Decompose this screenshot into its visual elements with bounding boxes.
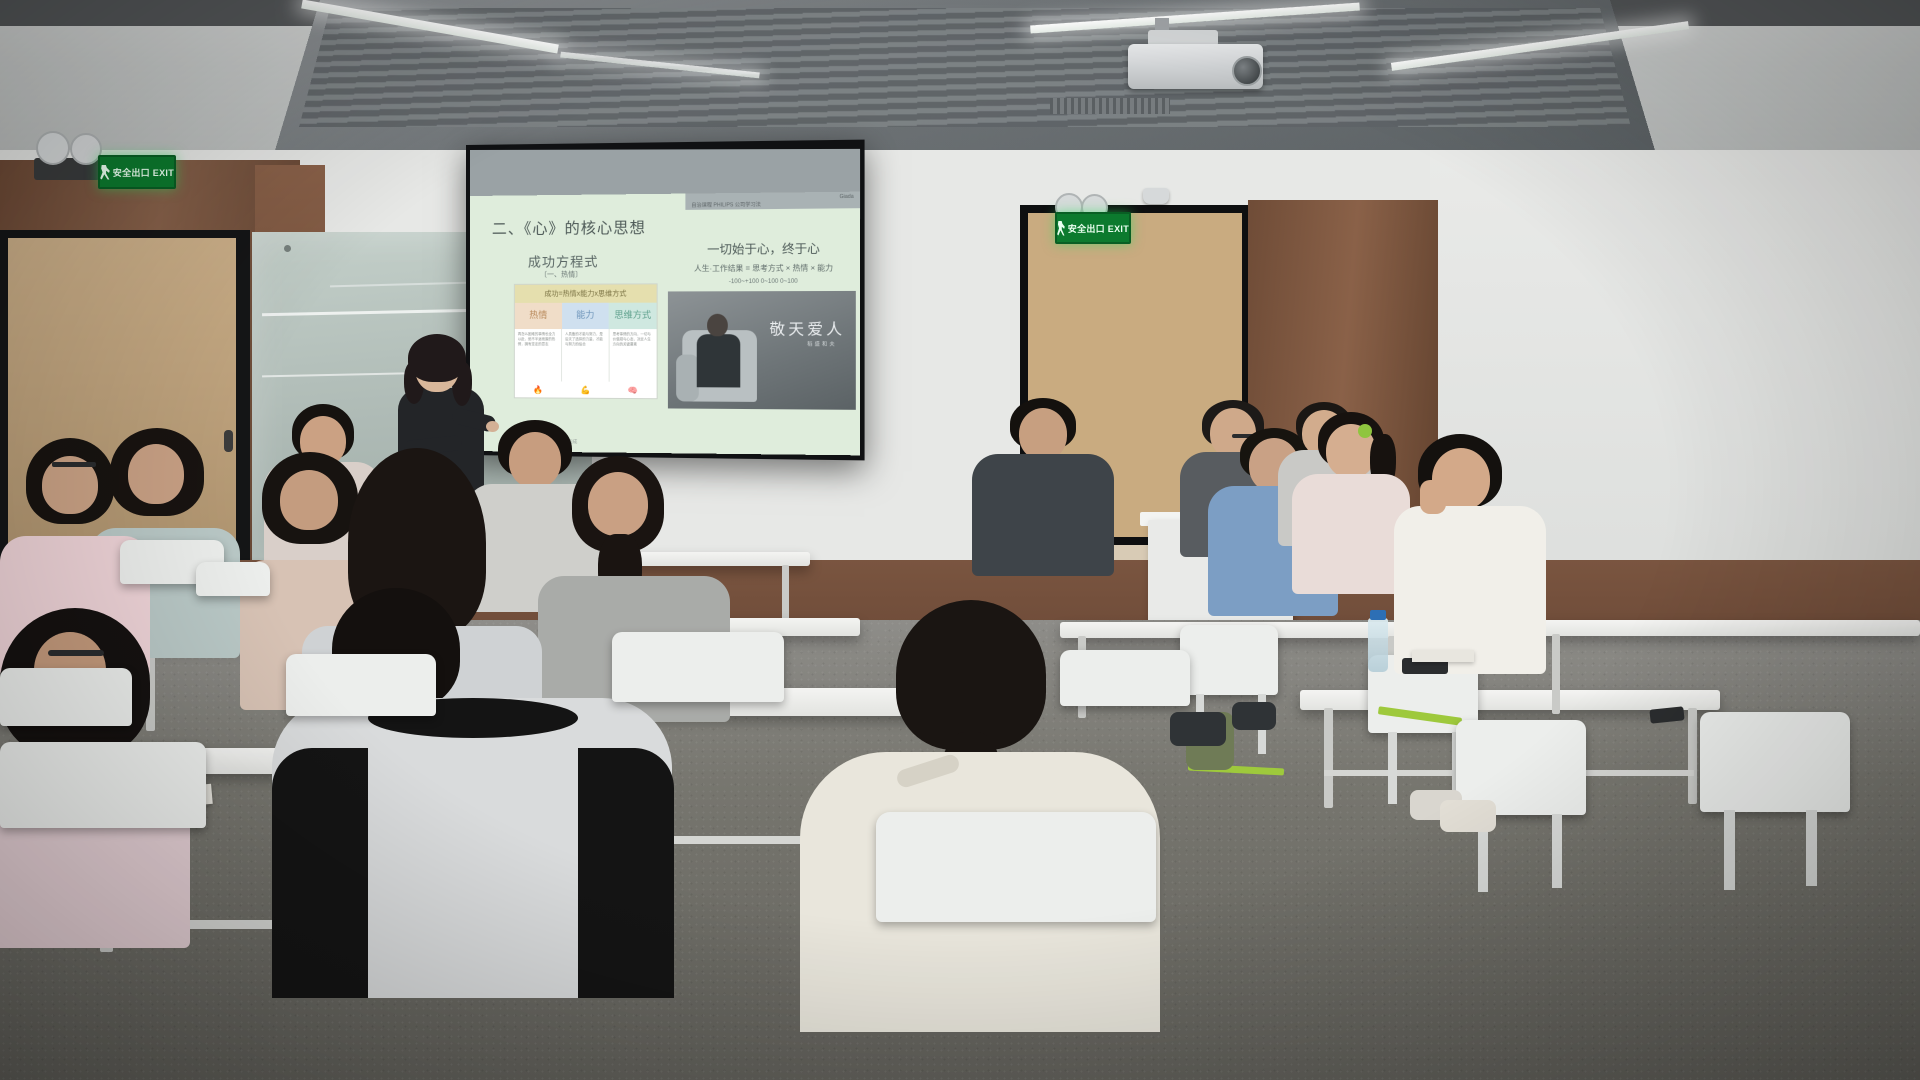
hair-tie-icon xyxy=(1358,424,1372,438)
glass-mount-screw-icon xyxy=(284,245,291,252)
slide-photo: 敬天爱人 稻盛和夫 xyxy=(668,291,856,410)
chair[interactable] xyxy=(0,742,206,828)
presentation-slide: 自治课程 PHILIPS 公司学习法 Giada 二、《心》的核心思想 成功方程… xyxy=(470,192,860,456)
eyeglasses-icon xyxy=(48,650,104,656)
equation-column-icons: 🔥 💪 🧠 xyxy=(515,381,657,398)
equation-header: 成功=热情x能力x思维方式 xyxy=(515,284,657,303)
shoe-icon xyxy=(1170,712,1226,746)
ability-emoji-icon: 💪 xyxy=(562,381,609,397)
chair[interactable] xyxy=(876,812,1156,922)
slide-left-subheading: 〔一、热情〕 xyxy=(540,269,582,279)
exit-sign-label-right: 安全出口 EXIT xyxy=(1068,222,1129,235)
running-man-icon xyxy=(100,165,110,180)
table-leg xyxy=(1552,634,1560,714)
column-body-mindset: 思考事情的方向，一切与价值观与心态，决定人生方向的关键要素 xyxy=(609,329,657,382)
ceiling-grate xyxy=(299,8,1631,127)
brand-badge-giada: Giada xyxy=(840,194,854,200)
chair-leg xyxy=(1724,810,1735,890)
table-leg xyxy=(1324,708,1333,808)
chair-leg xyxy=(1388,732,1397,804)
chair[interactable] xyxy=(0,668,132,726)
chair[interactable] xyxy=(1180,625,1278,695)
slide-right-heading: 一切始于心，终于心 xyxy=(672,239,856,258)
chair[interactable] xyxy=(1700,712,1850,812)
equation-column-labels: 热情 能力 思维方式 xyxy=(515,303,657,329)
passion-emoji-icon: 🔥 xyxy=(515,381,562,397)
success-equation-table: 成功=热情x能力x思维方式 热情 能力 思维方式 再怎么困难的事情也全力以赴，绝… xyxy=(514,283,658,399)
presenter-hair xyxy=(408,334,466,382)
eyeglasses-icon xyxy=(52,462,96,467)
mindset-emoji-icon: 🧠 xyxy=(609,382,657,399)
table-row xyxy=(1530,620,1920,636)
chair[interactable] xyxy=(612,632,784,702)
attendee-hand xyxy=(1420,480,1446,514)
presenter-hand xyxy=(486,421,499,432)
chair[interactable] xyxy=(286,654,436,716)
water-bottle[interactable] xyxy=(1368,618,1388,672)
running-man-icon xyxy=(1057,221,1065,236)
chair-leg xyxy=(1806,810,1817,886)
column-body-passion: 再怎么困难的事情也全力以赴，绝不半途而废的热情，拥有坚定的意志 xyxy=(515,329,561,381)
chair[interactable] xyxy=(196,562,270,596)
projector-lens-icon xyxy=(1232,56,1262,86)
exit-sign-left: 安全出口 EXIT xyxy=(98,155,176,189)
slide-right-ranges: -100~+100 0~100 0~100 xyxy=(668,279,860,286)
ceiling-vent xyxy=(1050,98,1170,114)
photo-person-head xyxy=(707,314,728,336)
table-leg xyxy=(782,565,789,625)
exit-sign-right: 安全出口 EXIT xyxy=(1055,212,1131,244)
column-body-ability: 人具备的才能与努力，是后天了选择的力量，才能与努力的结合 xyxy=(561,329,609,382)
table-leg xyxy=(1688,708,1697,804)
equation-column-bodies: 再怎么困难的事情也全力以赴，绝不半途而废的热情，拥有坚定的意志 人具备的才能与努… xyxy=(515,329,657,382)
photo-caption: 敬天爱人 xyxy=(769,318,845,340)
shoe-icon xyxy=(1232,702,1276,730)
table-row xyxy=(1300,690,1720,710)
column-label-mindset: 思维方式 xyxy=(609,303,657,329)
door-handle-icon[interactable] xyxy=(224,430,233,452)
slide-topbar-note: 自治课程 PHILIPS 公司学习法 xyxy=(691,202,760,209)
security-camera-icon xyxy=(1143,188,1169,204)
bottle-cap-icon xyxy=(1370,610,1386,620)
notebook[interactable] xyxy=(1412,650,1474,662)
photo-person-body xyxy=(697,334,741,387)
emergency-lamp-icon xyxy=(36,131,70,165)
photo-armchair-arm xyxy=(676,355,699,402)
slide-title: 二、《心》的核心思想 xyxy=(492,216,646,238)
slide-left-heading: 成功方程式 xyxy=(528,251,599,271)
column-label-passion: 热情 xyxy=(515,303,562,329)
column-label-ability: 能力 xyxy=(562,303,609,329)
chair-leg xyxy=(1552,814,1562,888)
training-room-photo: 安全出口 EXIT 安全出口 EXIT 自治课程 PHILIPS 公司学习法 G… xyxy=(0,0,1920,1080)
exit-sign-label-left: 安全出口 EXIT xyxy=(113,166,174,179)
shoe-icon xyxy=(1440,800,1496,832)
photo-caption-sub: 稻盛和夫 xyxy=(807,340,837,347)
slide-topbar: 自治课程 PHILIPS 公司学习法 xyxy=(685,192,860,210)
slide-right-formula: 人生·工作结果 = 思考方式 × 热情 × 能力 xyxy=(668,262,860,274)
chair[interactable] xyxy=(1060,650,1190,706)
